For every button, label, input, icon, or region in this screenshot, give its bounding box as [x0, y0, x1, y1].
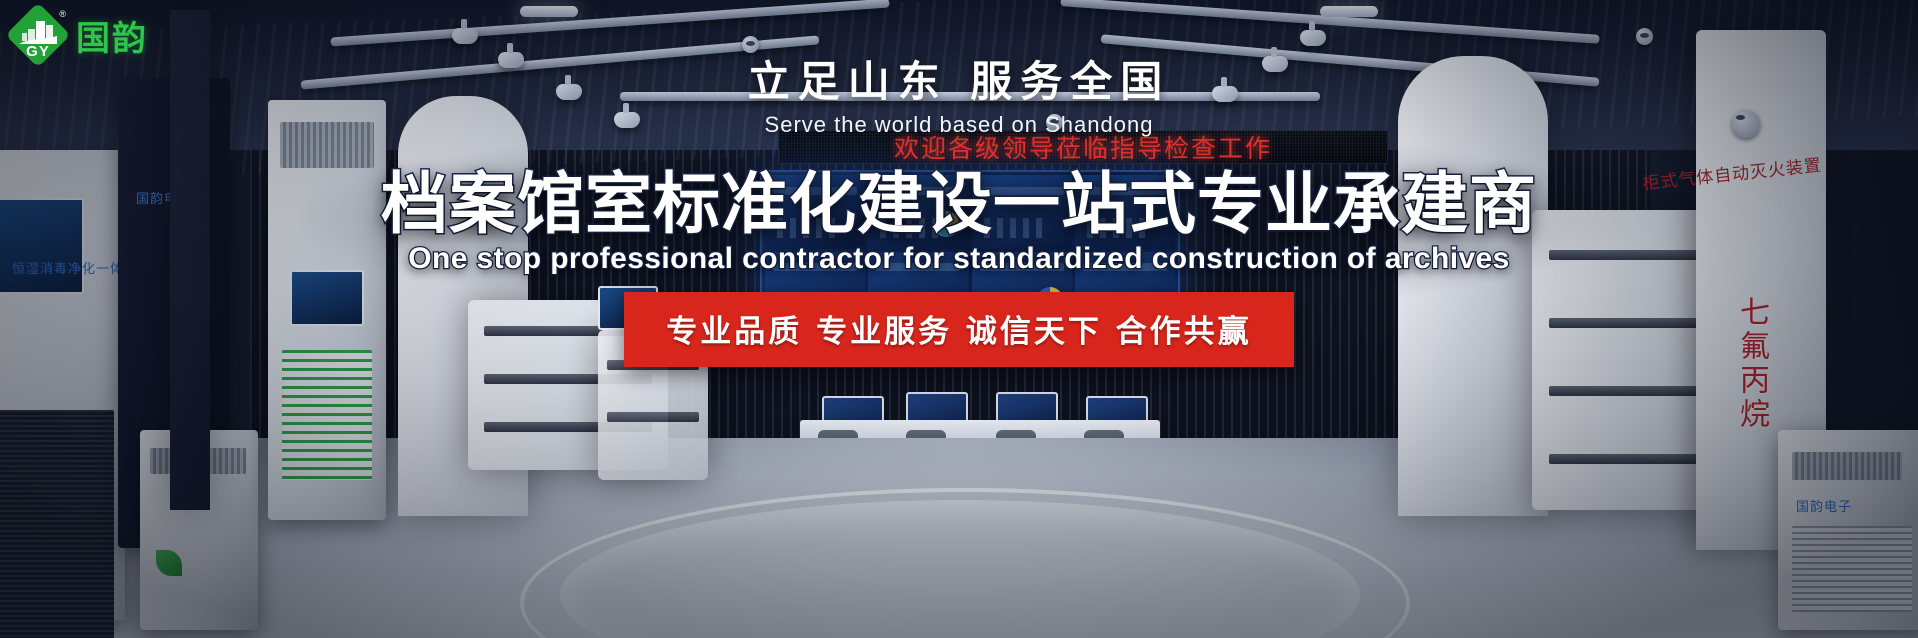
tagline-english: Serve the world based on Shandong	[0, 112, 1918, 138]
registered-mark: ®	[59, 9, 66, 19]
tagline-chinese: 立足山东 服务全国	[0, 48, 1918, 109]
sprinkler-head	[1636, 28, 1653, 45]
logo-gy-text: GY	[8, 43, 68, 60]
subheadline-english: One stop professional contractor for sta…	[0, 242, 1918, 276]
unit-indicator-strip	[282, 350, 372, 480]
logo-diamond-icon: ® GY	[8, 5, 68, 65]
ceiling-light	[520, 6, 578, 17]
ceiling-light	[1320, 6, 1378, 17]
hero-banner: 欢迎各级领导莅临指导检查工作	[0, 0, 1918, 638]
cta-row: 专业品质 专业服务 诚信天下 合作共赢	[0, 292, 1918, 367]
unit-grill	[1792, 526, 1912, 612]
brand-logo[interactable]: ® GY 国韵	[8, 4, 193, 66]
leaf-icon	[156, 550, 182, 576]
cabinet-air-grill	[0, 410, 114, 638]
cta-slogan-button[interactable]: 专业品质 专业服务 诚信天下 合作共赢	[624, 292, 1293, 367]
headline-chinese: 档案馆室标准化建设一站式专业承建商	[0, 150, 1918, 247]
right-purifier-unit: 国韵电子	[1778, 430, 1918, 630]
company-name: 国韵	[76, 11, 148, 60]
unit-vent	[1792, 452, 1902, 480]
track-spotlight	[1300, 30, 1326, 46]
right-cabinet-brand: 国韵电子	[1796, 496, 1852, 515]
track-spotlight	[452, 28, 478, 44]
